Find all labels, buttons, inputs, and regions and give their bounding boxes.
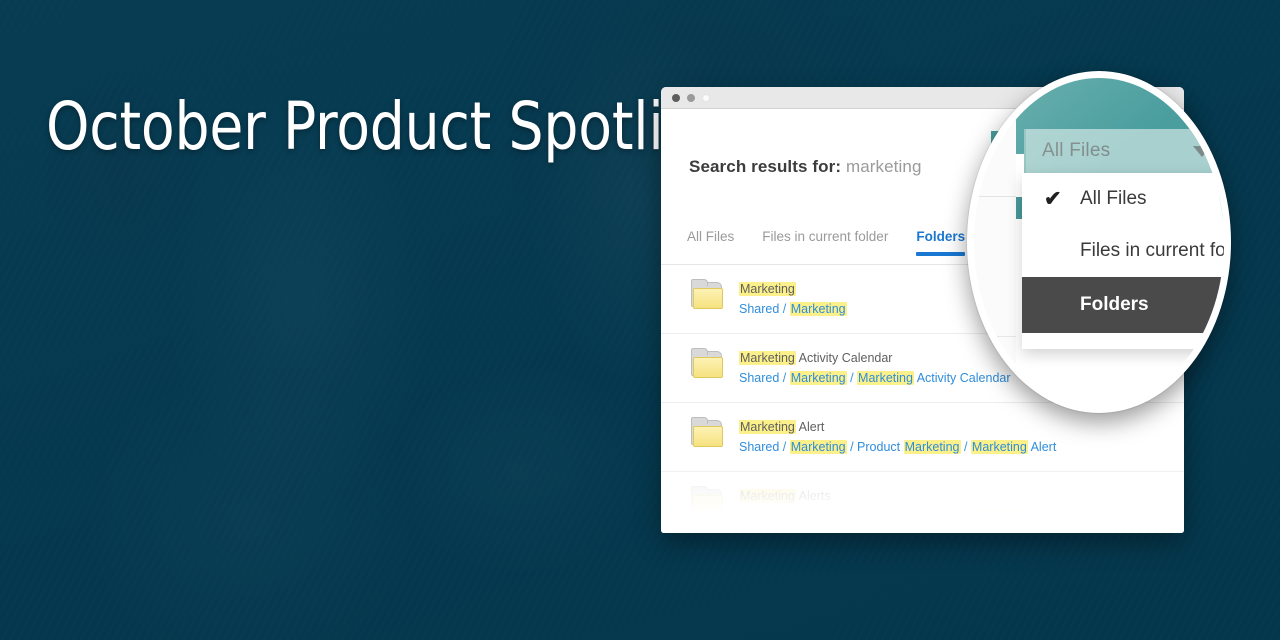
menu-item-label: Folders <box>1080 294 1149 316</box>
search-results-label: Search results for: <box>689 157 841 176</box>
result-path[interactable]: Shared / Design / _2014 Assets / Emails … <box>739 507 1064 526</box>
result-name: Marketing Activity Calendar <box>739 349 1011 368</box>
result-row[interactable]: Marketing AlertShared / Marketing / Prod… <box>661 403 1184 472</box>
page-title: October Product Spotlight <box>46 92 755 161</box>
result-name: Marketing <box>739 280 847 299</box>
menu-item-label: Files in current folder <box>1080 240 1224 262</box>
chevron-down-icon <box>1193 146 1211 157</box>
result-row[interactable]: Marketing AlertsShared / Design / _2014 … <box>661 472 1184 533</box>
zoom-dot-icon[interactable] <box>702 94 710 102</box>
folder-icon <box>691 489 725 517</box>
magnified-filter-dropdown[interactable]: ✔ All Files Files in current folder Fold… <box>1022 173 1224 349</box>
menu-item-label: All Files <box>1080 188 1147 210</box>
magnifier-lens: All Files ✔ All Files Files in current f… <box>967 71 1231 413</box>
result-text-block: Marketing Activity CalendarShared / Mark… <box>739 349 1011 388</box>
magnified-menu-item-files-in-current-folder[interactable]: Files in current folder <box>1022 225 1224 277</box>
folder-icon <box>691 420 725 448</box>
result-path[interactable]: Shared / Marketing / Product Marketing /… <box>739 438 1056 457</box>
magnified-menu-item-folders[interactable]: Folders <box>1022 277 1224 333</box>
magnified-menu-item-all-files[interactable]: ✔ All Files <box>1022 173 1224 225</box>
folder-icon <box>691 351 725 379</box>
result-path[interactable]: Shared / Marketing / Marketing Activity … <box>739 369 1011 388</box>
promo-banner: October Product Spotlight All Files ✔ Al… <box>0 0 1280 640</box>
search-query-text: marketing <box>846 157 922 176</box>
magnifier-content: All Files ✔ All Files Files in current f… <box>974 78 1224 406</box>
result-name: Marketing Alert <box>739 418 1056 437</box>
result-text-block: Marketing AlertsShared / Design / _2014 … <box>739 487 1064 526</box>
result-text-block: MarketingShared / Marketing <box>739 280 847 319</box>
close-dot-icon[interactable] <box>672 94 680 102</box>
result-path[interactable]: Shared / Marketing <box>739 300 847 319</box>
magnified-window-left-edge <box>974 78 1016 406</box>
folder-icon <box>691 282 725 310</box>
magnified-file-filter-button[interactable]: All Files <box>1024 129 1224 173</box>
magnified-file-filter-label: All Files <box>1042 140 1110 162</box>
tab-folders[interactable]: Folders <box>916 229 965 256</box>
check-icon: ✔ <box>1044 187 1062 212</box>
search-results-heading: Search results for: marketing <box>689 157 922 177</box>
minimize-dot-icon[interactable] <box>687 94 695 102</box>
result-name: Marketing Alerts <box>739 487 1064 506</box>
tab-all-files[interactable]: All Files <box>687 229 734 256</box>
tab-files-in-current-folder[interactable]: Files in current folder <box>762 229 888 256</box>
result-text-block: Marketing AlertShared / Marketing / Prod… <box>739 418 1056 457</box>
magnified-menu-footer <box>1022 333 1224 349</box>
